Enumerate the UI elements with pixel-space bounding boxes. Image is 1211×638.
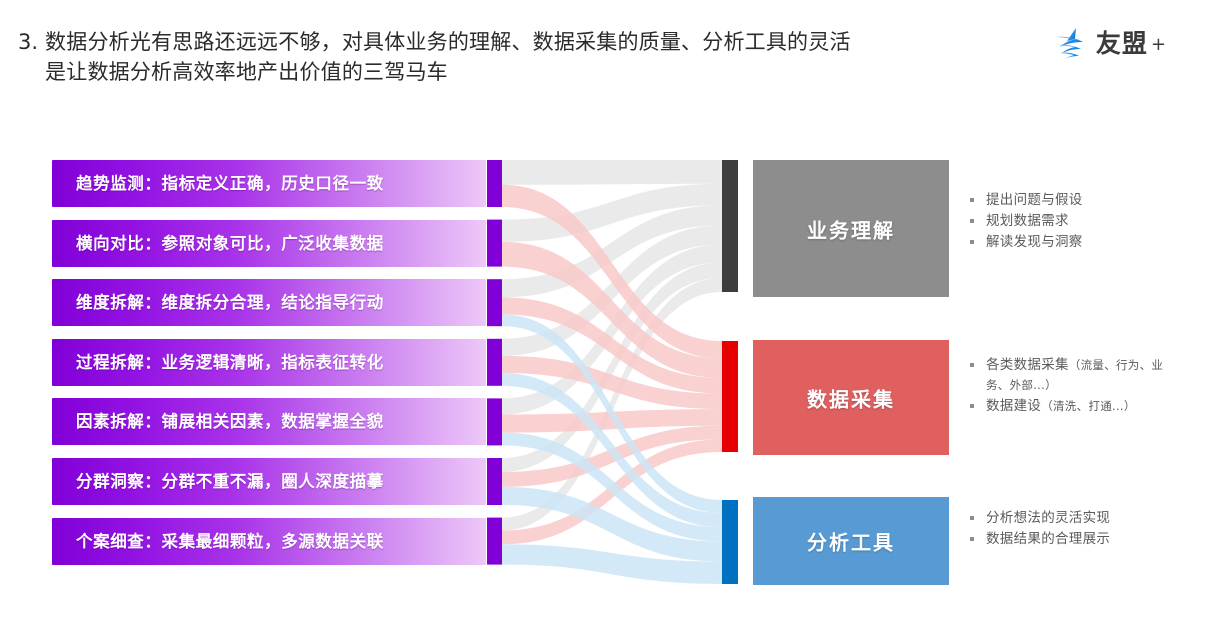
category-label: 分析工具 xyxy=(753,527,949,556)
bullet-list: 提出问题与假设规划数据需求解读发现与洞察 xyxy=(968,190,1183,252)
sankey-source-node-factor-split xyxy=(487,398,502,445)
sankey-link-trend-monitoring-to-business-understanding xyxy=(502,160,722,185)
bullets-data-collection: 各类数据采集（流量、行为、业务、外部...）数据建设（清洗、打通...） xyxy=(968,355,1183,417)
sankey-target-node-business-understanding xyxy=(722,160,738,292)
left-item-dimension-split[interactable]: 维度拆解：维度拆分合理，结论指导行动 xyxy=(52,279,486,326)
left-item-label: 因素拆解：铺展相关因素，数据掌握全貌 xyxy=(76,398,384,445)
bullet-text: 分析想法的灵活实现 xyxy=(986,510,1110,526)
category-box-analysis-tools[interactable]: 分析工具 xyxy=(753,497,949,585)
sankey-source-node-horizontal-compare xyxy=(487,220,502,267)
logo-plus: + xyxy=(1151,34,1166,55)
title-line-1: 数据分析光有思路还远远不够，对具体业务的理解、数据采集的质量、分析工具的灵活 xyxy=(45,30,851,54)
bullet-text: 提出问题与假设 xyxy=(986,192,1083,208)
bullet-text: 数据结果的合理展示 xyxy=(986,531,1110,547)
sankey-source-node-dimension-split xyxy=(487,279,502,326)
bullets-business-understanding: 提出问题与假设规划数据需求解读发现与洞察 xyxy=(968,190,1183,253)
bullet-item: 数据建设（清洗、打通...） xyxy=(968,396,1183,416)
sankey-source-node-trend-monitoring xyxy=(487,160,502,207)
left-item-trend-monitoring[interactable]: 趋势监测：指标定义正确，历史口径一致 xyxy=(52,160,486,207)
sankey-source-node-process-split xyxy=(487,339,502,386)
bullet-note: （清洗、打通...） xyxy=(1041,399,1135,413)
left-item-horizontal-compare[interactable]: 横向对比：参照对象可比，广泛收集数据 xyxy=(52,220,486,267)
left-item-cohort-insight[interactable]: 分群洞察：分群不重不漏，圈人深度描摹 xyxy=(52,458,486,505)
left-item-case-detail[interactable]: 个案细查：采集最细颗粒，多源数据关联 xyxy=(52,518,486,565)
title-number: 3. xyxy=(18,27,38,57)
bullet-list: 分析想法的灵活实现数据结果的合理展示 xyxy=(968,508,1183,549)
bullet-text: 各类数据采集 xyxy=(986,357,1069,373)
bullet-list: 各类数据采集（流量、行为、业务、外部...）数据建设（清洗、打通...） xyxy=(968,355,1183,416)
sankey-source-node-case-detail xyxy=(487,518,502,565)
category-label: 业务理解 xyxy=(753,214,949,243)
logo-text: 友盟 xyxy=(1096,27,1148,61)
left-item-label: 横向对比：参照对象可比，广泛收集数据 xyxy=(76,220,384,267)
left-item-label: 维度拆解：维度拆分合理，结论指导行动 xyxy=(76,279,384,326)
left-item-process-split[interactable]: 过程拆解：业务逻辑清晰，指标表征转化 xyxy=(52,339,486,386)
bullet-item: 规划数据需求 xyxy=(968,211,1183,231)
slide-header: 3. 数据分析光有思路还远远不够，对具体业务的理解、数据采集的质量、分析工具的灵… xyxy=(0,0,1211,110)
sankey-target-node-data-collection xyxy=(722,341,738,452)
page-title: 3. 数据分析光有思路还远远不够，对具体业务的理解、数据采集的质量、分析工具的灵… xyxy=(18,27,1008,87)
sankey-target-node-analysis-tools xyxy=(722,500,738,584)
bullet-text: 解读发现与洞察 xyxy=(986,234,1083,250)
left-item-label: 个案细查：采集最细颗粒，多源数据关联 xyxy=(76,518,384,565)
bullet-item: 数据结果的合理展示 xyxy=(968,529,1183,549)
left-item-factor-split[interactable]: 因素拆解：铺展相关因素，数据掌握全貌 xyxy=(52,398,486,445)
left-item-label: 分群洞察：分群不重不漏，圈人深度描摹 xyxy=(76,458,384,505)
title-line-2: 是让数据分析高效率地产出价值的三驾马车 xyxy=(45,57,851,87)
bullet-text: 规划数据需求 xyxy=(986,213,1069,229)
bullet-item: 提出问题与假设 xyxy=(968,190,1183,210)
left-item-label: 过程拆解：业务逻辑清晰，指标表征转化 xyxy=(76,339,384,386)
category-box-business-understanding[interactable]: 业务理解 xyxy=(753,160,949,297)
bullets-analysis-tools: 分析想法的灵活实现数据结果的合理展示 xyxy=(968,508,1183,550)
category-label: 数据采集 xyxy=(753,383,949,412)
title-text: 数据分析光有思路还远远不够，对具体业务的理解、数据采集的质量、分析工具的灵活 是… xyxy=(45,27,851,87)
bullet-text: 数据建设 xyxy=(986,398,1041,414)
bullet-item: 分析想法的灵活实现 xyxy=(968,508,1183,528)
umeng-bird-logo-icon xyxy=(1052,27,1092,61)
sankey-diagram: 趋势监测：指标定义正确，历史口径一致横向对比：参照对象可比，广泛收集数据维度拆解… xyxy=(0,140,1211,610)
bullet-item: 各类数据采集（流量、行为、业务、外部...） xyxy=(968,355,1183,395)
bullet-item: 解读发现与洞察 xyxy=(968,232,1183,252)
sankey-ribbon-layer xyxy=(502,160,722,584)
left-item-label: 趋势监测：指标定义正确，历史口径一致 xyxy=(76,160,384,207)
slide-root: 3. 数据分析光有思路还远远不够，对具体业务的理解、数据采集的质量、分析工具的灵… xyxy=(0,0,1211,638)
brand-logo: 友盟 + xyxy=(1052,26,1166,62)
sankey-source-node-cohort-insight xyxy=(487,458,502,505)
category-box-data-collection[interactable]: 数据采集 xyxy=(753,340,949,455)
